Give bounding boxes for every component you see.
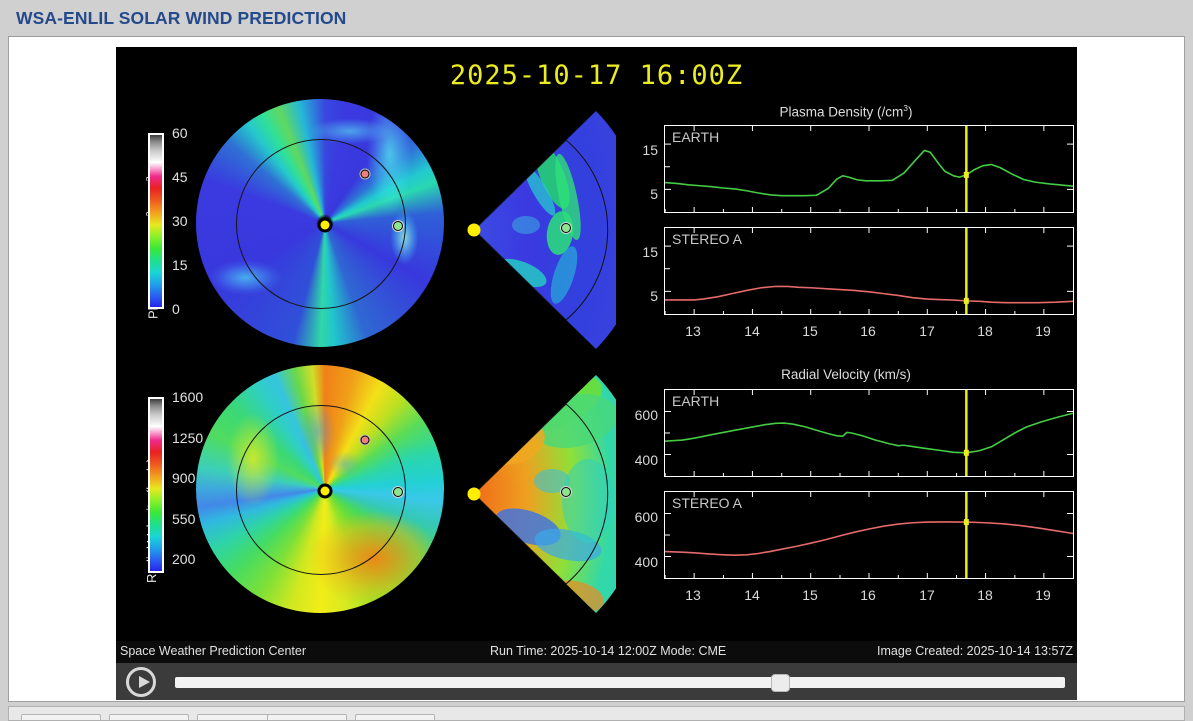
velocity-xtick-17: 17 bbox=[919, 587, 935, 603]
ecliptic-plane-density-plot bbox=[196, 99, 444, 347]
velocity-xtick-15: 15 bbox=[802, 587, 818, 603]
bottom-tab-2[interactable] bbox=[109, 714, 189, 721]
bottom-tab-4[interactable] bbox=[267, 714, 347, 721]
plasma-density-stereo-a-label: STEREO A bbox=[672, 231, 742, 247]
image-footer: Space Weather Prediction Center Run Time… bbox=[116, 641, 1077, 663]
radial-velocity-earth-chart bbox=[665, 390, 1073, 476]
bottom-tab-3[interactable] bbox=[197, 714, 277, 721]
cbar-tick-velocity-4: 200 bbox=[172, 551, 195, 567]
bottom-toolbar-strip bbox=[8, 706, 1185, 721]
radial-velocity-stereo-a-label: STEREO A bbox=[672, 495, 742, 511]
radial-velocity-colorbar-gradient bbox=[148, 397, 164, 573]
ts-title-density-main: Plasma Density (/cm bbox=[779, 105, 903, 120]
page-header: WSA-ENLIL SOLAR WIND PREDICTION bbox=[0, 0, 1193, 36]
bottom-tab-1[interactable] bbox=[21, 714, 101, 721]
cbar-tick-density-3: 15 bbox=[172, 257, 188, 273]
plot-stage: 2025-10-17 16:00Z Plasma Density (r2N/cm… bbox=[116, 47, 1077, 641]
meridional-plane-velocity-plot bbox=[456, 369, 616, 619]
play-button[interactable] bbox=[126, 667, 156, 697]
plasma-density-earth-label: EARTH bbox=[672, 129, 719, 145]
meridional-plane-density-plot bbox=[456, 105, 616, 355]
cbar-tick-velocity-3: 550 bbox=[172, 511, 195, 527]
radial-velocity-earth-ytick-400: 400 bbox=[614, 452, 658, 468]
velocity-xtick-19: 19 bbox=[1035, 587, 1051, 603]
page-root: WSA-ENLIL SOLAR WIND PREDICTION 2025-10-… bbox=[0, 0, 1193, 721]
plasma-density-colorbar-gradient bbox=[148, 133, 164, 309]
cbar-tick-density-0: 60 bbox=[172, 125, 188, 141]
radial-velocity-stereo-ytick-400: 400 bbox=[614, 554, 658, 570]
sun-marker-density-ecliptic bbox=[318, 218, 333, 233]
cbar-tick-density-2: 30 bbox=[172, 213, 188, 229]
plasma-density-earth-ytick-5: 5 bbox=[626, 186, 658, 202]
stereo-a-marker-density-ecliptic bbox=[361, 170, 370, 179]
footer-agency: Space Weather Prediction Center bbox=[120, 644, 306, 658]
earth-marker-velocity-ecliptic bbox=[393, 487, 403, 497]
footer-image-created: Image Created: 2025-10-14 13:57Z bbox=[877, 644, 1073, 658]
animation-player-bar bbox=[116, 663, 1077, 700]
density-xtick-18: 18 bbox=[977, 323, 993, 339]
bottom-tab-5[interactable] bbox=[355, 714, 435, 721]
earth-marker-density-meridional bbox=[561, 223, 571, 233]
density-xtick-14: 14 bbox=[744, 323, 760, 339]
density-xtick-19: 19 bbox=[1035, 323, 1051, 339]
plasma-density-stereo-ytick-15: 15 bbox=[626, 244, 658, 260]
ecliptic-plane-velocity-plot bbox=[196, 365, 444, 613]
velocity-xtick-13: 13 bbox=[685, 587, 701, 603]
sun-marker-velocity-ecliptic bbox=[318, 484, 333, 499]
velocity-xtick-18: 18 bbox=[977, 587, 993, 603]
cbar-tick-density-1: 45 bbox=[172, 169, 188, 185]
radial-velocity-timeseries-group: Radial Velocity (km/s) EARTH 600 400 STE… bbox=[636, 367, 1056, 607]
ts-title-density-close: ) bbox=[908, 105, 913, 120]
plasma-density-earth-panel: EARTH bbox=[664, 125, 1074, 213]
velocity-xtick-16: 16 bbox=[860, 587, 876, 603]
plasma-density-timeseries-title: Plasma Density (/cm3) bbox=[636, 103, 1056, 120]
cbar-tick-velocity-2: 900 bbox=[172, 470, 195, 486]
density-xtick-13: 13 bbox=[685, 323, 701, 339]
sun-marker-velocity-meridional bbox=[468, 488, 481, 501]
radial-velocity-timeseries-title: Radial Velocity (km/s) bbox=[636, 367, 1056, 382]
radial-velocity-colorbar: Radial Velocity (km/s) 1600 1250 900 550… bbox=[116, 311, 206, 641]
earth-marker-velocity-meridional bbox=[561, 487, 571, 497]
density-xtick-17: 17 bbox=[919, 323, 935, 339]
plasma-density-stereo-a-panel: STEREO A bbox=[664, 227, 1074, 315]
radial-velocity-earth-label: EARTH bbox=[672, 393, 719, 409]
plasma-density-stereo-ytick-5: 5 bbox=[626, 288, 658, 304]
radial-velocity-stereo-ytick-600: 600 bbox=[614, 509, 658, 525]
density-xtick-15: 15 bbox=[802, 323, 818, 339]
page-title: WSA-ENLIL SOLAR WIND PREDICTION bbox=[16, 8, 346, 29]
velocity-xtick-14: 14 bbox=[744, 587, 760, 603]
footer-run-time: Run Time: 2025-10-14 12:00Z Mode: CME bbox=[490, 644, 726, 658]
stereo-a-marker-velocity-ecliptic bbox=[361, 436, 370, 445]
frame-slider[interactable] bbox=[175, 677, 1065, 688]
radial-velocity-earth-panel: EARTH bbox=[664, 389, 1074, 477]
plasma-density-colorbar: Plasma Density (r2N/cm3) 60 45 30 15 0 bbox=[116, 47, 206, 347]
radial-velocity-earth-ytick-600: 600 bbox=[614, 407, 658, 423]
frame-slider-handle[interactable] bbox=[771, 674, 790, 692]
model-viewer: 2025-10-17 16:00Z Plasma Density (r2N/cm… bbox=[116, 47, 1077, 700]
earth-marker-density-ecliptic bbox=[393, 221, 403, 231]
radial-velocity-stereo-a-panel: STEREO A bbox=[664, 491, 1074, 579]
play-icon bbox=[139, 676, 150, 688]
frame-timestamp: 2025-10-17 16:00Z bbox=[116, 60, 1077, 91]
plasma-density-earth-chart bbox=[665, 126, 1073, 212]
sun-marker-density-meridional bbox=[468, 224, 481, 237]
plasma-density-timeseries-group: Plasma Density (/cm3) EARTH 15 5 STEREO … bbox=[636, 103, 1056, 343]
plasma-density-earth-ytick-15: 15 bbox=[626, 142, 658, 158]
density-xtick-16: 16 bbox=[860, 323, 876, 339]
content-panel: 2025-10-17 16:00Z Plasma Density (r2N/cm… bbox=[8, 36, 1185, 702]
